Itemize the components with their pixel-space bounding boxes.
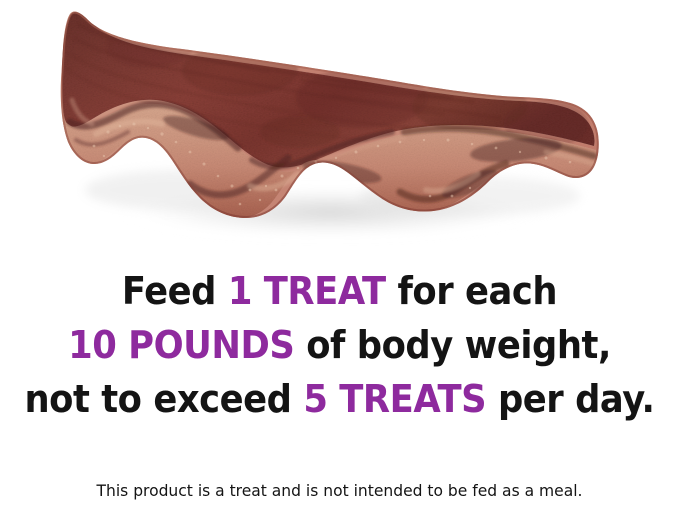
headline-line-1: Feed 1 TREAT for each: [24, 272, 655, 310]
treat-ground-shadow: [85, 170, 580, 238]
treat-illustration: [0, 0, 679, 255]
headline-line-3: not to exceed 5 TREATS per day.: [24, 380, 655, 418]
product-feeding-guideline-page: Feed 1 TREAT for each 10 POUNDS of body …: [0, 0, 679, 513]
headline-line2-highlight: 10 POUNDS: [68, 323, 294, 367]
headline-line3-text-before: not to exceed: [24, 377, 303, 421]
headline-line1-highlight: 1 TREAT: [228, 269, 386, 313]
headline-line1-text-before: Feed: [122, 269, 228, 313]
headline-line3-highlight: 5 TREATS: [303, 377, 486, 421]
feeding-instruction-headline: Feed 1 TREAT for each 10 POUNDS of body …: [0, 272, 679, 418]
headline-line2-text-after: of body weight,: [294, 323, 611, 367]
headline-line3-text-after: per day.: [486, 377, 654, 421]
headline-line1-text-after: for each: [386, 269, 557, 313]
product-image: [0, 0, 679, 255]
disclaimer-text: This product is a treat and is not inten…: [10, 481, 669, 500]
headline-line-2: 10 POUNDS of body weight,: [24, 326, 655, 364]
